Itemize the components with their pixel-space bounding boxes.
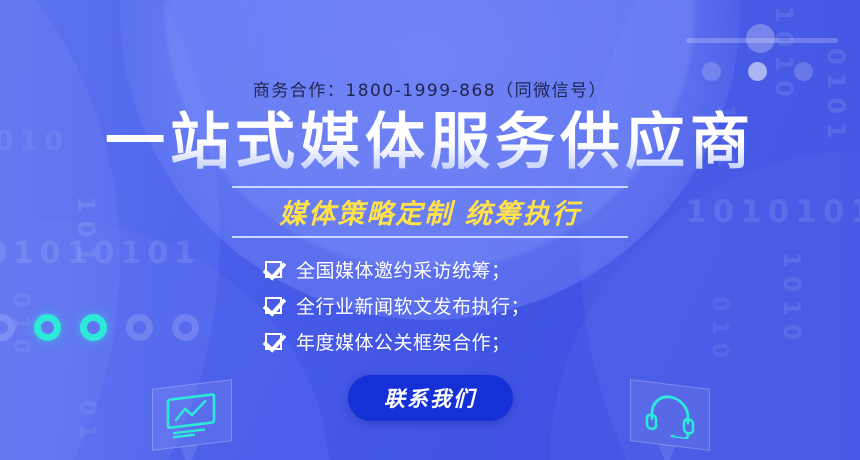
subtitle-container: 媒体策略定制 统筹执行 [232, 186, 628, 238]
contact-us-button-label: 联系我们 [384, 383, 476, 413]
feature-list: 全国媒体邀约采访统筹； 全行业新闻软文发布执行； 年度媒体公关框架合作； [265, 256, 595, 355]
checkbox-checked-icon [265, 297, 282, 314]
contact-us-button[interactable]: 联系我们 [348, 375, 513, 421]
list-item-label: 全行业新闻软文发布执行； [296, 292, 530, 319]
contact-line: 商务合作：1800-1999-868（同微信号） [253, 76, 607, 101]
list-item: 年度媒体公关框架合作； [265, 328, 595, 355]
page-title: 一站式媒体服务供应商 [105, 110, 755, 174]
list-item-label: 年度媒体公关框架合作； [296, 328, 511, 355]
list-item-label: 全国媒体邀约采访统筹； [296, 256, 511, 283]
promo-banner: 01010101 1010 101 010 01 1010101 1010 01… [0, 0, 860, 460]
checkbox-checked-icon [265, 261, 282, 278]
subtitle: 媒体策略定制 统筹执行 [232, 192, 628, 231]
banner-content: 商务合作：1800-1999-868（同微信号） 一站式媒体服务供应商 媒体策略… [0, 0, 860, 460]
list-item: 全行业新闻软文发布执行； [265, 292, 595, 319]
list-item: 全国媒体邀约采访统筹； [265, 256, 595, 283]
checkbox-checked-icon [265, 333, 282, 350]
